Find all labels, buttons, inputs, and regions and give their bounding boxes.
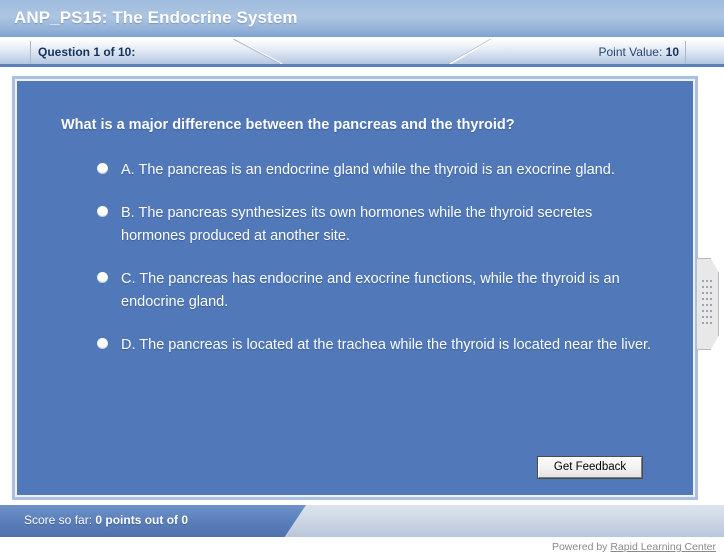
question-text: What is a major difference between the p…	[61, 117, 641, 133]
tab-slash-left	[232, 39, 284, 64]
radio-unselected-icon[interactable]	[97, 206, 108, 217]
score-label: Score so far:	[24, 513, 92, 527]
answer-choices-list: A. The pancreas is an endocrine gland wh…	[93, 159, 653, 377]
title-bar: ANP_PS15: The Endocrine System	[0, 0, 724, 38]
point-value-number: 10	[666, 45, 679, 59]
status-bar: Question 1 of 10: Point Value: 10	[0, 39, 724, 67]
radio-unselected-icon[interactable]	[97, 272, 108, 283]
score-bar: Score so far: 0 points out of 0	[0, 505, 724, 537]
content-panel: What is a major difference between the p…	[12, 76, 698, 500]
footer-attribution: Powered by Rapid Learning Center	[552, 541, 716, 553]
answer-option-c[interactable]: C. The pancreas has endocrine and exocri…	[93, 268, 653, 314]
answer-option-b[interactable]: B. The pancreas synthesizes its own horm…	[93, 202, 653, 248]
answer-option-c-label: C. The pancreas has endocrine and exocri…	[121, 268, 653, 314]
get-feedback-button[interactable]: Get Feedback	[538, 457, 642, 478]
answer-option-d[interactable]: D. The pancreas is located at the trache…	[93, 334, 653, 357]
answer-option-d-label: D. The pancreas is located at the trache…	[121, 334, 653, 357]
powered-by-label: Powered by	[552, 541, 607, 553]
question-counter: Question 1 of 10:	[38, 45, 135, 59]
answer-option-b-label: B. The pancreas synthesizes its own horm…	[121, 202, 653, 248]
question-panel: What is a major difference between the p…	[15, 79, 695, 497]
tab-divider-right	[685, 41, 686, 65]
answer-option-a[interactable]: A. The pancreas is an endocrine gland wh…	[93, 159, 653, 182]
tab-divider-left	[30, 41, 31, 65]
score-text: Score so far: 0 points out of 0	[24, 513, 188, 527]
page-title: ANP_PS15: The Endocrine System	[14, 8, 298, 28]
score-value: 0 points out of 0	[95, 513, 188, 527]
radio-unselected-icon[interactable]	[97, 163, 108, 174]
radio-unselected-icon[interactable]	[97, 338, 108, 349]
tab-slash-right	[446, 39, 494, 64]
answer-option-a-label: A. The pancreas is an endocrine gland wh…	[121, 159, 653, 182]
point-value-label: Point Value:	[598, 45, 662, 59]
point-value: Point Value: 10	[598, 45, 679, 59]
quiz-application: ANP_PS15: The Endocrine System Question …	[0, 0, 724, 559]
grip-dots-icon	[702, 280, 714, 328]
footer: Powered by Rapid Learning Center	[0, 539, 724, 559]
splitter-handle[interactable]	[697, 258, 719, 350]
rapid-learning-center-link[interactable]: Rapid Learning Center	[610, 541, 716, 553]
